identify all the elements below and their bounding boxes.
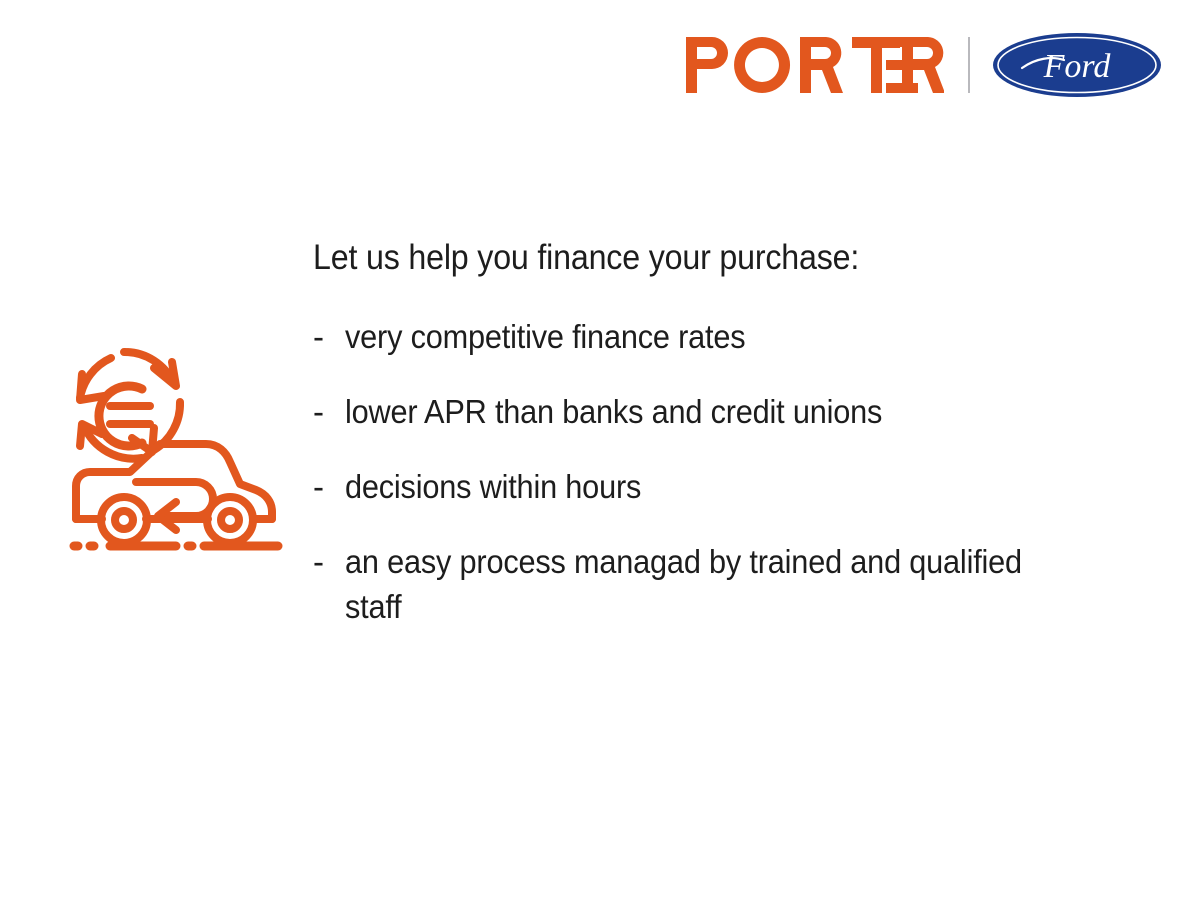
list-item-label: decisions within hours: [345, 464, 641, 509]
bullet-dash-icon: -: [313, 464, 345, 509]
svg-text:Ford: Ford: [1043, 48, 1112, 85]
ford-logo: Ford: [992, 32, 1162, 98]
list-item: - very competitive finance rates: [313, 314, 1113, 359]
headline: Let us help you finance your purchase:: [313, 236, 1049, 280]
bullet-dash-icon: -: [313, 389, 345, 434]
list-item: - an easy process managad by trained and…: [313, 539, 1113, 629]
list-item: - decisions within hours: [313, 464, 1113, 509]
list-item-label: an easy process managad by trained and q…: [345, 539, 1059, 629]
copy-block: Let us help you finance your purchase: -…: [313, 236, 1113, 629]
benefit-list: - very competitive finance rates - lower…: [313, 314, 1113, 629]
bullet-dash-icon: -: [313, 539, 345, 584]
list-item: - lower APR than banks and credit unions: [313, 389, 1113, 434]
slide-canvas: Ford: [0, 0, 1200, 900]
bullet-dash-icon: -: [313, 314, 345, 359]
porter-logo: [686, 36, 944, 94]
car-finance-euro-icon: [58, 334, 293, 569]
brand-divider: [968, 37, 970, 93]
list-item-label: lower APR than banks and credit unions: [345, 389, 882, 434]
brand-lockup: Ford: [686, 26, 1136, 104]
list-item-label: very competitive finance rates: [345, 314, 745, 359]
